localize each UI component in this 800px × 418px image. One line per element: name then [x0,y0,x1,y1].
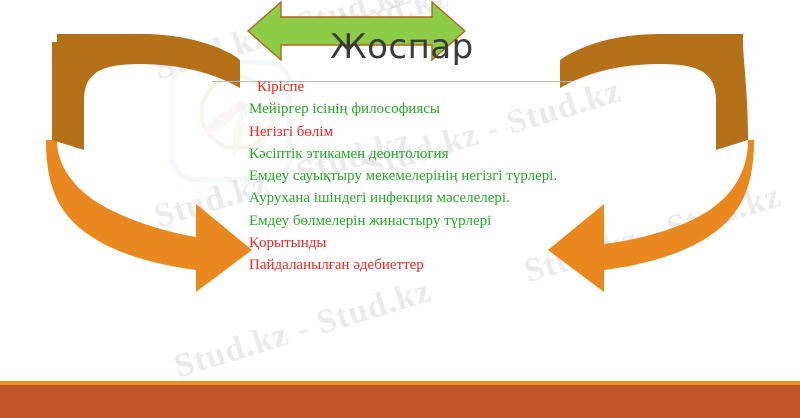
list-item: Кіріспе [249,76,669,98]
list-item: Аурухана ішіндегі инфекция мәселелері. [249,187,669,209]
list-item: Пайдаланылған әдебиеттер [249,254,669,276]
list-item: Негізгі бөлім [249,121,669,143]
footer-bar [0,385,800,418]
list-item: Емдеу сауықтыру мекемелерінің негізгі тү… [249,165,669,187]
list-item: Кәсіптік этикамен деонтология [249,143,669,165]
list-item: Қорытынды [249,232,669,254]
slide-canvas: Stud.kz - Stud.kz Stud.kz - Stud.kz Stud… [0,0,800,418]
page-title: Жоспар [330,27,474,67]
list-item: Мейіргер ісінің философиясы [249,98,669,120]
slide-content: Жоспар КіріспеМейіргер ісінің философияс… [0,0,800,418]
list-item: Емдеу бөлмелерін жинастыру түрлері [249,210,669,232]
plan-list: КіріспеМейіргер ісінің философиясыНегізг… [249,76,669,277]
